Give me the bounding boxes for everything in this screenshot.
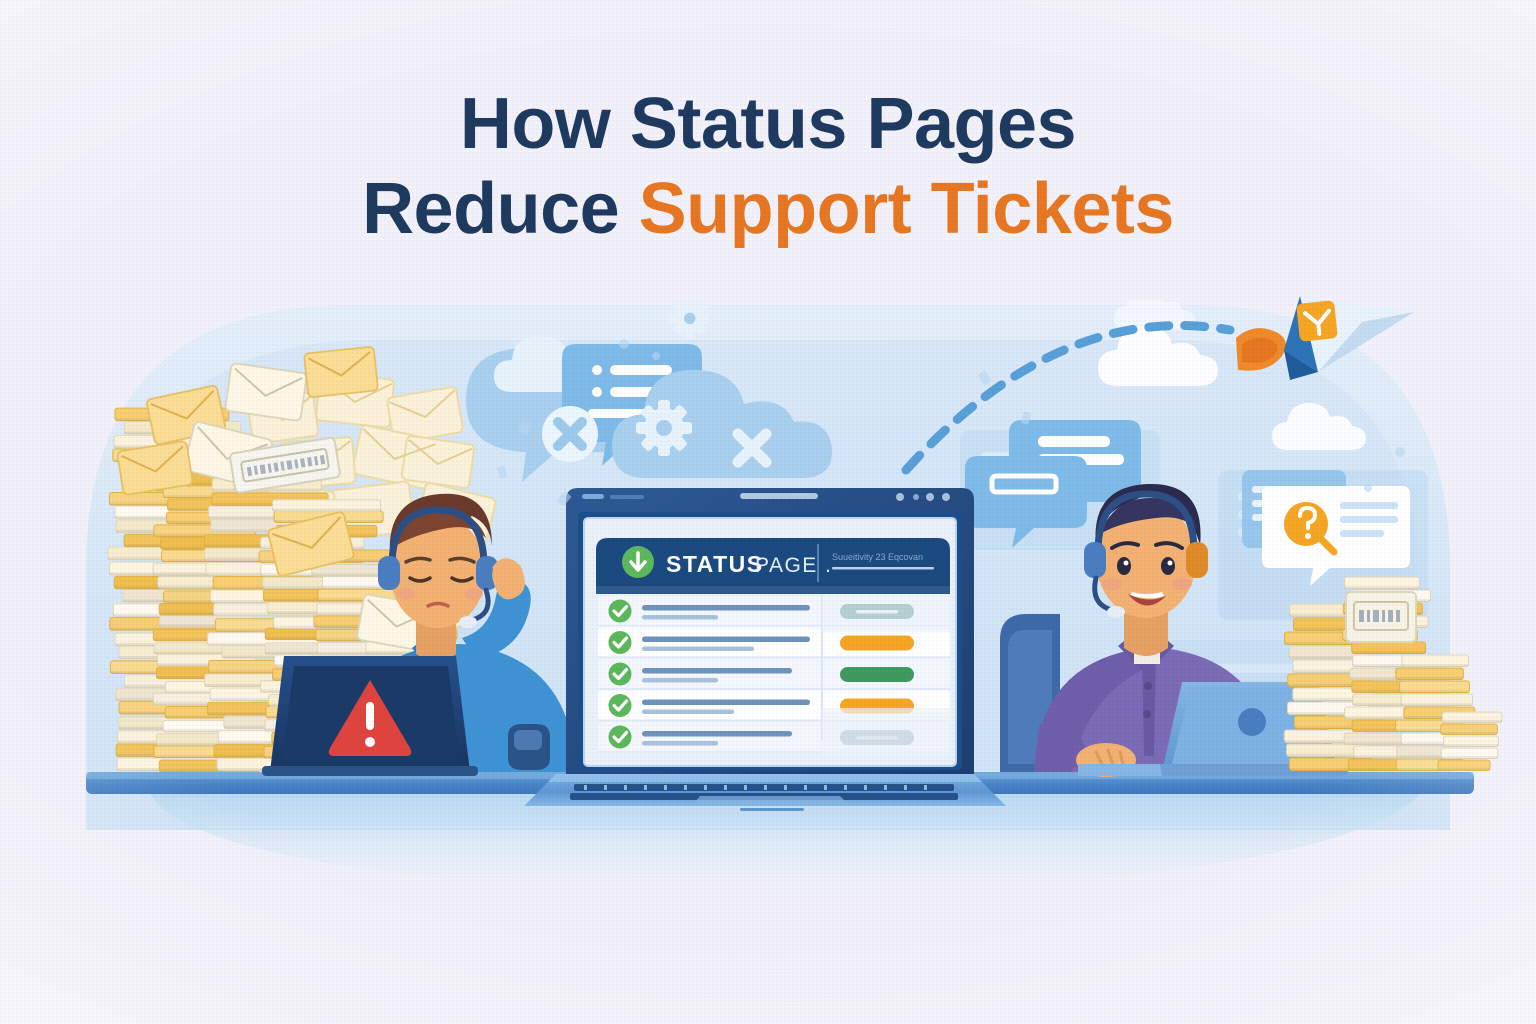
status-page-laptop: STATUS PAGE . Suueitivity 23 Eqcovan [524,488,1006,816]
paper-plane-icon [1236,296,1414,380]
check-circle-icon [609,600,632,623]
row-title-line [642,700,810,706]
ticket-slab [1396,668,1464,680]
mouse-device [508,724,550,770]
row-title-line [642,668,792,674]
row-title-line [642,605,810,611]
title-accent: Support Tickets [639,169,1174,249]
ticket-slab [1441,748,1498,759]
status-badge[interactable] [840,636,914,651]
envelope-icon [304,346,378,397]
ticket-slab [1401,694,1472,706]
row-sub-line [642,647,754,652]
envelope-icon [225,363,307,421]
title-line-2: Reduce Support Tickets [0,167,1536,252]
check-circle-icon [609,631,632,654]
row-sub-line [642,710,734,715]
status-row[interactable] [598,659,950,689]
title-line-1: How Status Pages [0,82,1536,167]
status-badge[interactable] [840,667,914,682]
row-sub-line [642,741,718,746]
ticket-slab [1345,577,1420,589]
row-title-line [642,637,810,643]
check-circle-icon [609,726,632,749]
row-sub-line [642,678,718,683]
check-circle-icon [609,663,632,686]
x-mark-icon [542,406,598,462]
ticket-slab [1438,760,1490,771]
tickets-box-label [1346,592,1416,642]
page-title: How Status Pages Reduce Support Tickets [0,82,1536,252]
ticket-slab [273,500,381,512]
ticket-slab [1441,724,1498,735]
check-circle-icon [609,694,632,717]
left-laptop [262,656,478,776]
status-page-title-light: PAGE . [755,554,832,577]
row-title-line [642,731,792,737]
ticket-slab [1402,655,1468,667]
ticket-slab [1352,642,1426,654]
status-page-title-bold: STATUS [666,551,764,577]
status-page-meta: Suueitivity 23 Eqcovan [832,552,923,562]
illustration-canvas: How Status Pages Reduce Support Tickets [0,0,1536,1024]
ticket-slab [1400,681,1470,693]
status-logo-icon [622,546,654,578]
title-plain: Reduce [362,169,639,249]
ticket-slab [1442,712,1502,723]
row-sub-line [642,615,718,620]
ticket-slab [1444,736,1499,747]
